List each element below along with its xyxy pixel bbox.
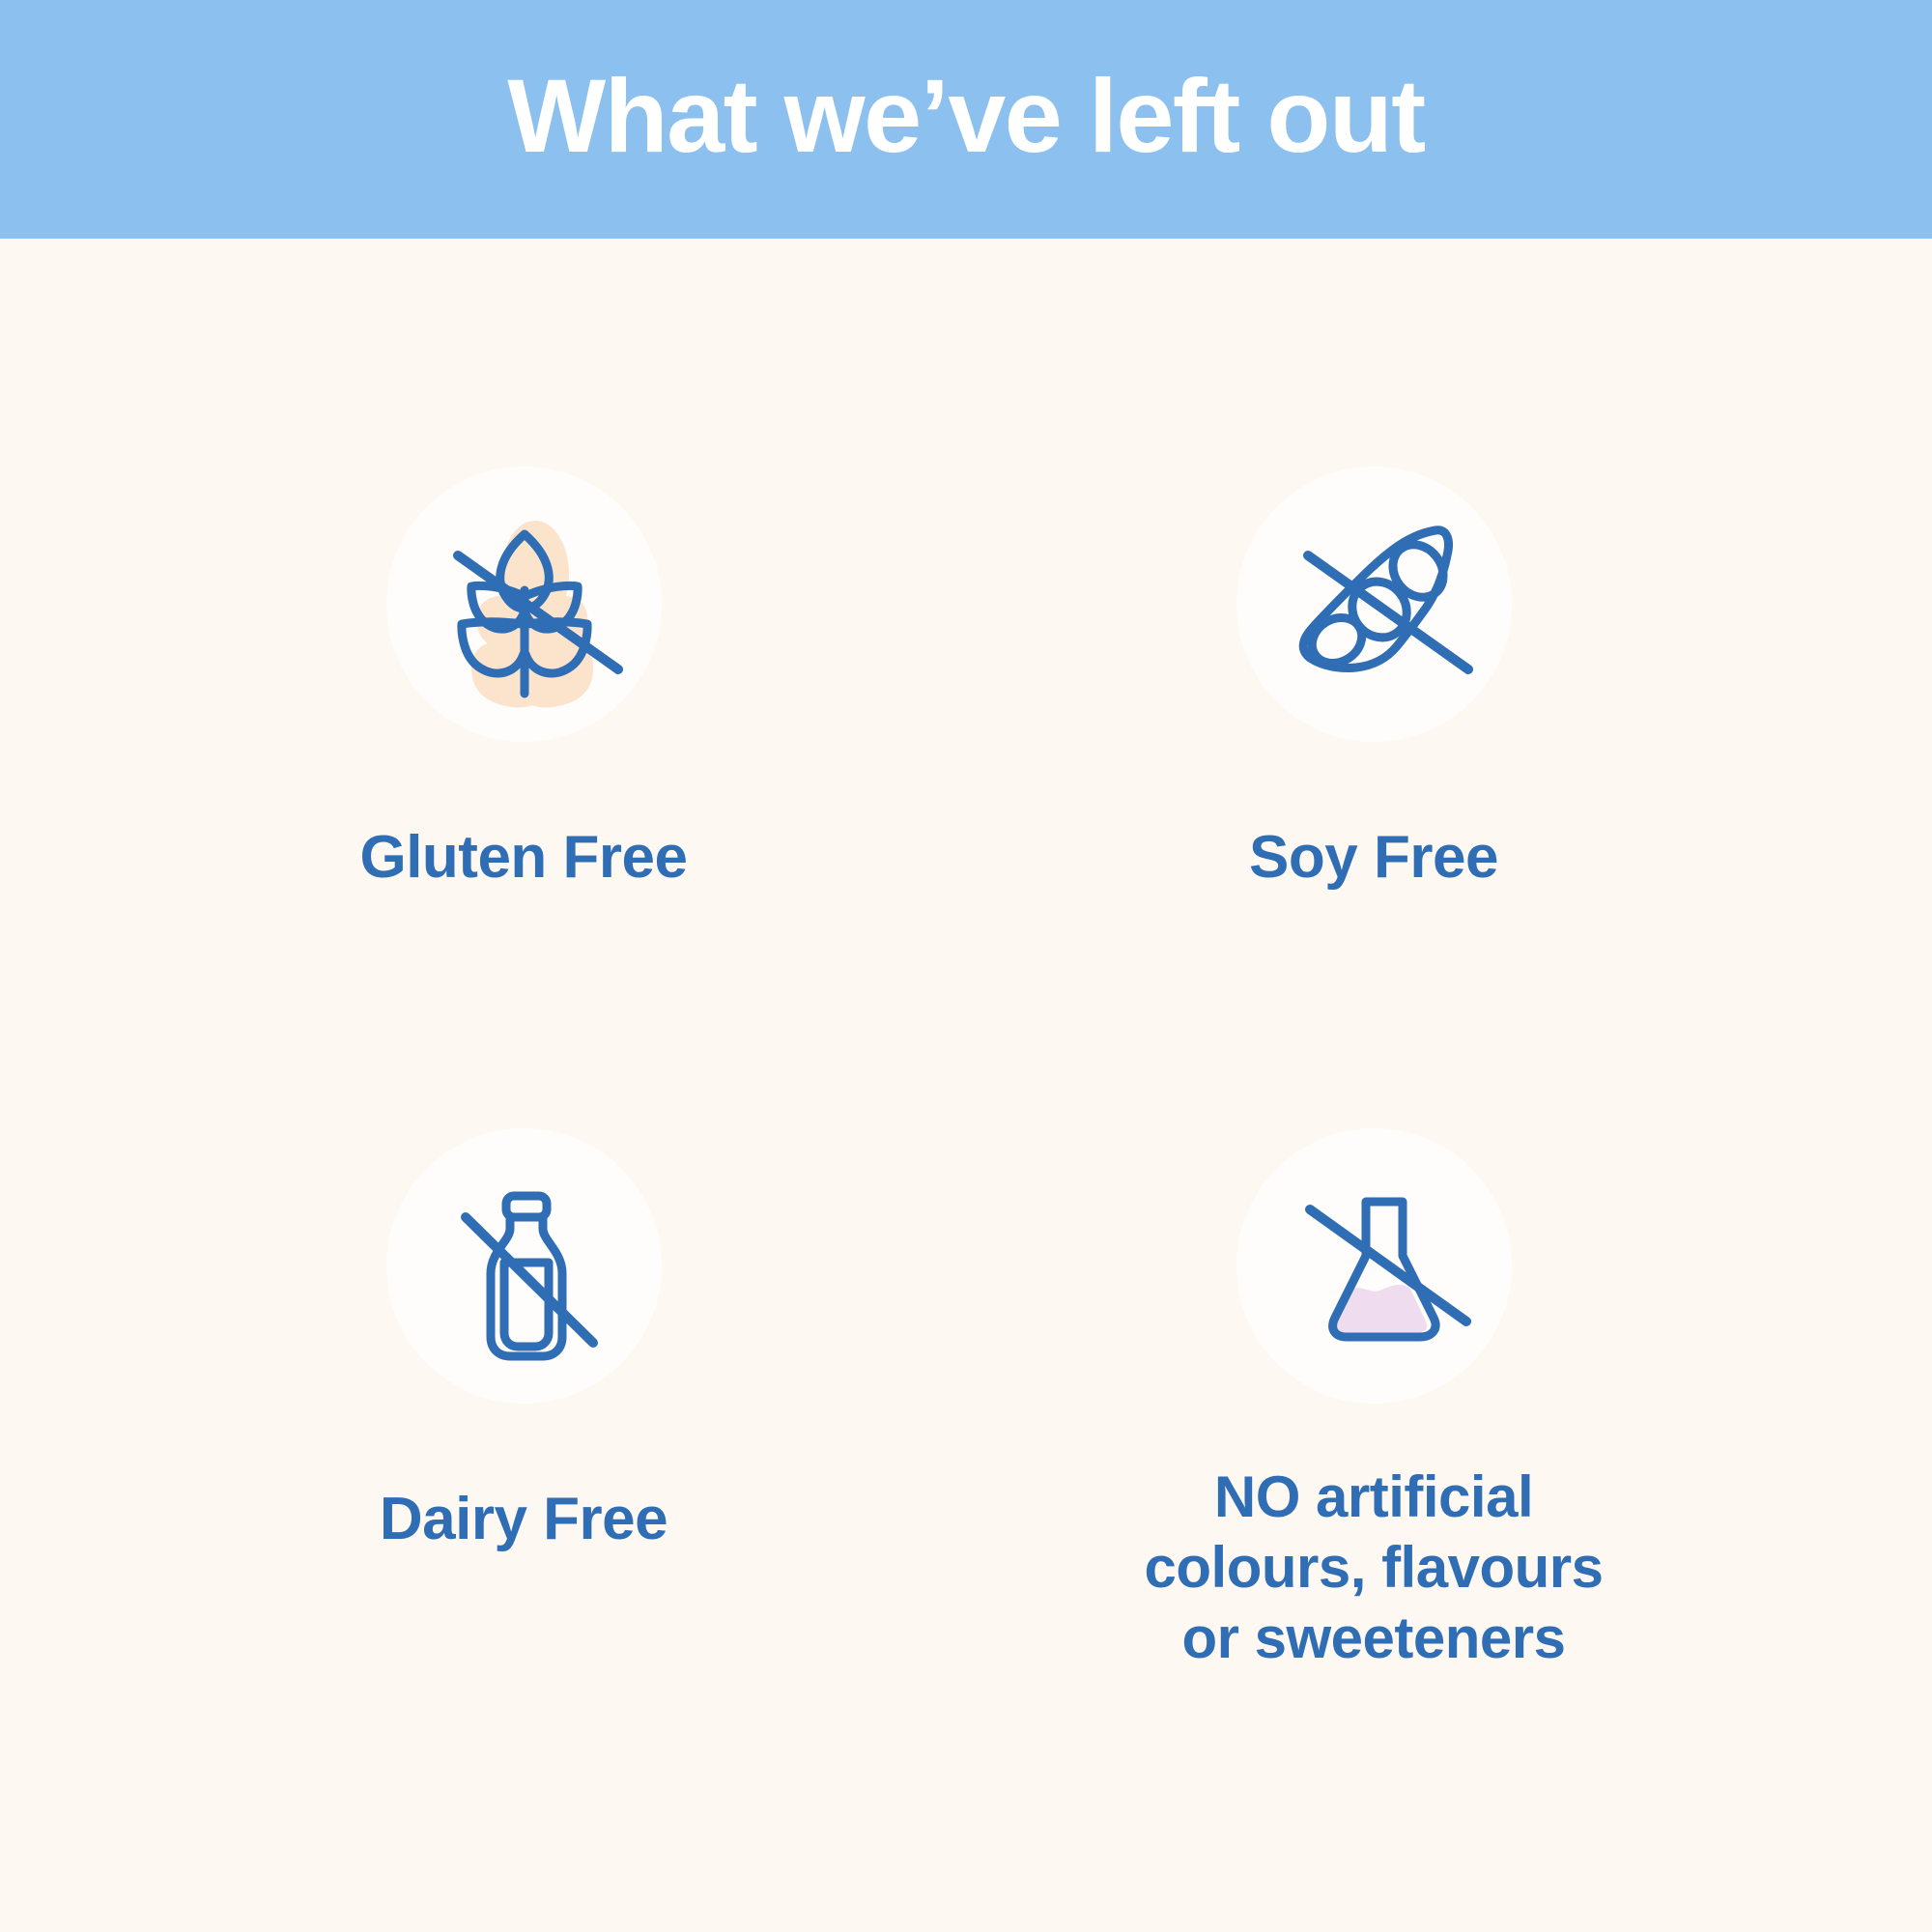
feature-label-gluten-free: Gluten Free [359,822,687,893]
page-title: What we’ve left out [507,64,1425,168]
soybean-crossed-out-icon [1236,467,1512,742]
flask-crossed-out-icon [1236,1128,1512,1404]
feature-item-no-artificial: NO artificial colours, flavours or sweet… [891,1128,1857,1674]
icon-circle-dairy-free [386,1128,662,1404]
icon-circle-no-artificial [1236,1128,1512,1404]
icon-circle-gluten-free [386,467,662,742]
feature-label-no-artificial: NO artificial colours, flavours or sweet… [1145,1462,1604,1674]
milk-bottle-crossed-out-icon [386,1128,662,1404]
icon-circle-soy-free [1236,467,1512,742]
infographic-page: What we’ve left out [0,0,1932,1932]
header-band: What we’ve left out [0,0,1932,239]
feature-label-soy-free: Soy Free [1249,822,1498,893]
feature-grid: Gluten Free [0,239,1932,1932]
feature-item-gluten-free: Gluten Free [41,467,1007,893]
wheat-crossed-out-icon [386,467,662,742]
feature-item-dairy-free: Dairy Free [41,1128,1007,1554]
feature-item-soy-free: Soy Free [891,467,1857,893]
feature-label-dairy-free: Dairy Free [380,1484,668,1554]
